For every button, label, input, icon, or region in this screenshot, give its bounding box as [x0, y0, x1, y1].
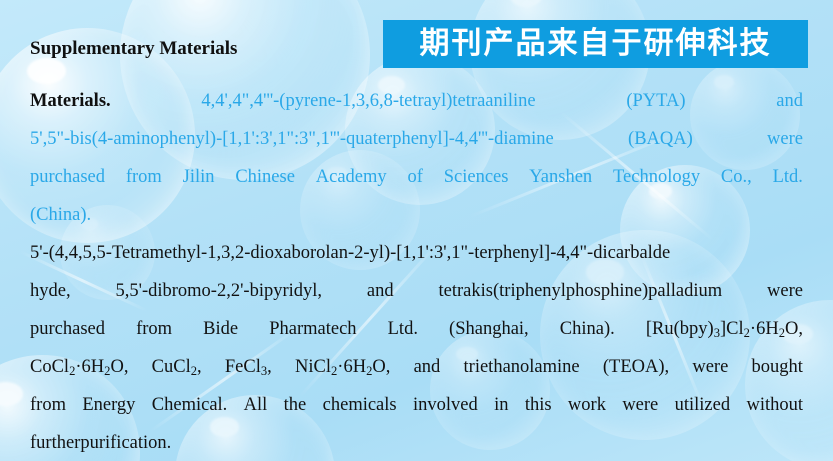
- paragraph-segment: without: [746, 386, 803, 424]
- paragraph-segment: Academy: [316, 158, 387, 196]
- paragraph-segment: purchased: [30, 310, 105, 348]
- paragraph-segment: Co.,: [721, 158, 752, 196]
- paragraph-line: fromEnergyChemical.Allthechemicalsinvolv…: [30, 386, 803, 424]
- paragraph-segment: Ltd.: [388, 310, 418, 348]
- paragraph-segment: Bide: [203, 310, 238, 348]
- paragraph-segment: 5'-(4,4,5,5-Tetramethyl-1,3,2-dioxaborol…: [30, 234, 670, 272]
- paragraph-segment: and: [414, 348, 441, 386]
- paragraph-line: hyde,5,5'-dibromo-2,2'-bipyridyl,andtetr…: [30, 272, 803, 310]
- paragraph-line: purchasedfromJilinChineseAcademyofScienc…: [30, 158, 803, 196]
- materials-paragraph: Materials.4,4',4",4'''-(pyrene-1,3,6,8-t…: [30, 82, 803, 461]
- paragraph-segment: bought: [752, 348, 803, 386]
- paragraph-segment: CuCl2,: [152, 348, 202, 386]
- paragraph-segment: purification.: [80, 424, 171, 461]
- paragraph-line: furtherpurification.: [30, 424, 803, 461]
- paragraph-segment: were: [622, 386, 658, 424]
- paragraph-segment: of: [407, 158, 422, 196]
- paragraph-segment: from: [30, 386, 66, 424]
- paragraph-segment: hyde,: [30, 272, 71, 310]
- materials-lead-label: Materials.: [30, 82, 111, 120]
- paragraph-segment: Chemical.: [152, 386, 228, 424]
- paragraph-segment: in: [494, 386, 508, 424]
- paragraph-segment: 5,5'-dibromo-2,2'-bipyridyl,: [115, 272, 322, 310]
- paragraph-segment: work: [568, 386, 606, 424]
- paragraph-segment: FeCl3,: [225, 348, 272, 386]
- paragraph-segment: were: [767, 272, 803, 310]
- paragraph-line: (China).: [30, 196, 803, 234]
- paragraph-segment: were: [692, 348, 728, 386]
- paragraph-line: purchasedfromBidePharmatechLtd.(Shanghai…: [30, 310, 803, 348]
- paragraph-segment: (TEOA),: [603, 348, 669, 386]
- paragraph-segment: NiCl2·6H2O,: [295, 348, 390, 386]
- paragraph-segment: and: [776, 82, 803, 120]
- paragraph-segment: the: [284, 386, 307, 424]
- paragraph-segment: (BAQA): [628, 120, 693, 158]
- paragraph-line: 5',5"-bis(4-aminophenyl)-[1,1':3',1":3",…: [30, 120, 803, 158]
- paragraph-segment: triethanolamine: [464, 348, 580, 386]
- paragraph-segment: purchased: [30, 158, 105, 196]
- paragraph-segment: Chinese: [235, 158, 295, 196]
- paragraph-segment: China).: [560, 310, 615, 348]
- paragraph-segment: and: [367, 272, 394, 310]
- paragraph-segment: CoCl2·6H2O,: [30, 348, 128, 386]
- paragraph-segment: utilized: [675, 386, 730, 424]
- paragraph-segment: (PYTA): [626, 82, 685, 120]
- paragraph-segment: this: [525, 386, 552, 424]
- paragraph-segment: Sciences: [444, 158, 509, 196]
- paragraph-segment: involved: [413, 386, 478, 424]
- paragraph-segment: from: [136, 310, 172, 348]
- paragraph-segment: Jilin: [183, 158, 215, 196]
- paragraph-segment: (Shanghai,: [449, 310, 529, 348]
- paragraph-segment: Ltd.: [773, 158, 803, 196]
- paragraph-segment: were: [767, 120, 803, 158]
- paragraph-segment: from: [126, 158, 162, 196]
- paragraph-segment: Pharmatech: [269, 310, 356, 348]
- paragraph-segment: [Ru(bpy)3]Cl2·6H2O,: [646, 310, 803, 348]
- publisher-banner-text: 期刊产品来自于研伸科技: [420, 29, 772, 59]
- paragraph-segment: tetrakis(triphenylphosphine)palladium: [439, 272, 723, 310]
- paragraph-segment: Energy: [82, 386, 135, 424]
- paragraph-segment: (China).: [30, 196, 91, 234]
- paragraph-line: 5'-(4,4,5,5-Tetramethyl-1,3,2-dioxaborol…: [30, 234, 803, 272]
- document-page: 期刊产品来自于研伸科技 Supplementary Materials Mate…: [0, 0, 833, 461]
- paragraph-segment: 5',5"-bis(4-aminophenyl)-[1,1':3',1":3",…: [30, 120, 554, 158]
- paragraph-segment: Yanshen: [529, 158, 592, 196]
- paragraph-segment: Technology: [613, 158, 700, 196]
- page-title: Supplementary Materials: [30, 38, 237, 60]
- publisher-banner: 期刊产品来自于研伸科技: [383, 20, 808, 68]
- paragraph-line: Materials.4,4',4",4'''-(pyrene-1,3,6,8-t…: [30, 82, 803, 120]
- paragraph-segment: chemicals: [323, 386, 397, 424]
- paragraph-line: CoCl2·6H2O,CuCl2,FeCl3,NiCl2·6H2O,andtri…: [30, 348, 803, 386]
- paragraph-segment: All: [244, 386, 268, 424]
- paragraph-segment: further: [30, 424, 80, 461]
- paragraph-segment: 4,4',4",4'''-(pyrene-1,3,6,8-tetrayl)tet…: [201, 82, 535, 120]
